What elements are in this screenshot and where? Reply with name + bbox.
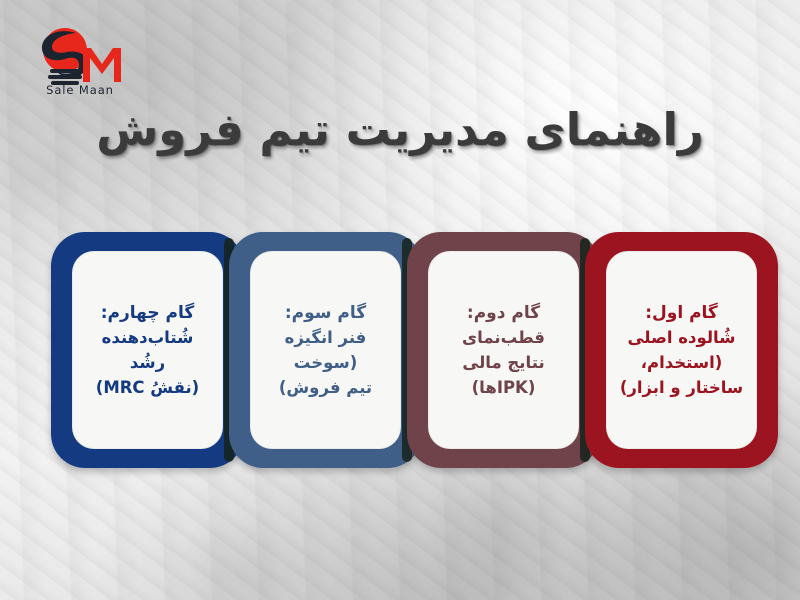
page-title: راهنمای مدیریت تیم فروش [0, 103, 800, 156]
card-3-line-1: گام سوم: [285, 302, 366, 324]
card-3-line-3: (سوخت [294, 352, 357, 374]
card-inner-panel: گام سوم: فنر انگیزه (سوخت تیم فروش) [250, 251, 401, 449]
card-4-line-3: رشُد [130, 352, 165, 374]
card-2-line-2: قطب‌نمای [462, 327, 545, 349]
card-2-line-4: (IPKها) [472, 377, 536, 399]
card-3-line-4: تیم فروش) [279, 377, 372, 399]
card-2-line-1: گام دوم: [467, 302, 540, 324]
card-1-line-4: ساختار و ابزار) [620, 377, 743, 399]
steps-row: گام اول: شُالوده اصلی (استخدام، ساختار و… [0, 232, 800, 472]
step-card-4[interactable]: گام چهارم: شُتاب‌دهنده رشُد (نقشُ MRC) [51, 232, 244, 468]
card-3-line-2: فنر انگیزه [285, 327, 367, 349]
card-inner-panel: گام چهارم: شُتاب‌دهنده رشُد (نقشُ MRC) [72, 251, 223, 449]
card-2-line-3: نتایج مالی [462, 352, 544, 374]
card-inner-panel: گام دوم: قطب‌نمای نتایج مالی (IPKها) [428, 251, 579, 449]
step-card-2[interactable]: گام دوم: قطب‌نمای نتایج مالی (IPKها) [407, 232, 600, 468]
card-4-line-2: شُتاب‌دهنده [102, 327, 194, 349]
card-4-line-1: گام چهارم: [101, 302, 195, 324]
step-card-3[interactable]: گام سوم: فنر انگیزه (سوخت تیم فروش) [229, 232, 422, 468]
card-1-line-1: گام اول: [645, 302, 718, 324]
card-1-line-3: (استخدام، [641, 352, 723, 374]
infographic-canvas: Sale Maan راهنمای مدیریت تیم فروش گام او… [0, 0, 800, 600]
step-card-1[interactable]: گام اول: شُالوده اصلی (استخدام، ساختار و… [585, 232, 778, 468]
brand-logo: Sale Maan [24, 22, 136, 110]
sale-maan-logo-icon [24, 22, 136, 92]
card-4-line-4: (نقشُ MRC) [96, 377, 199, 399]
card-1-line-2: شُالوده اصلی [628, 327, 736, 349]
card-inner-panel: گام اول: شُالوده اصلی (استخدام، ساختار و… [606, 251, 757, 449]
brand-logo-text: Sale Maan [24, 83, 136, 97]
